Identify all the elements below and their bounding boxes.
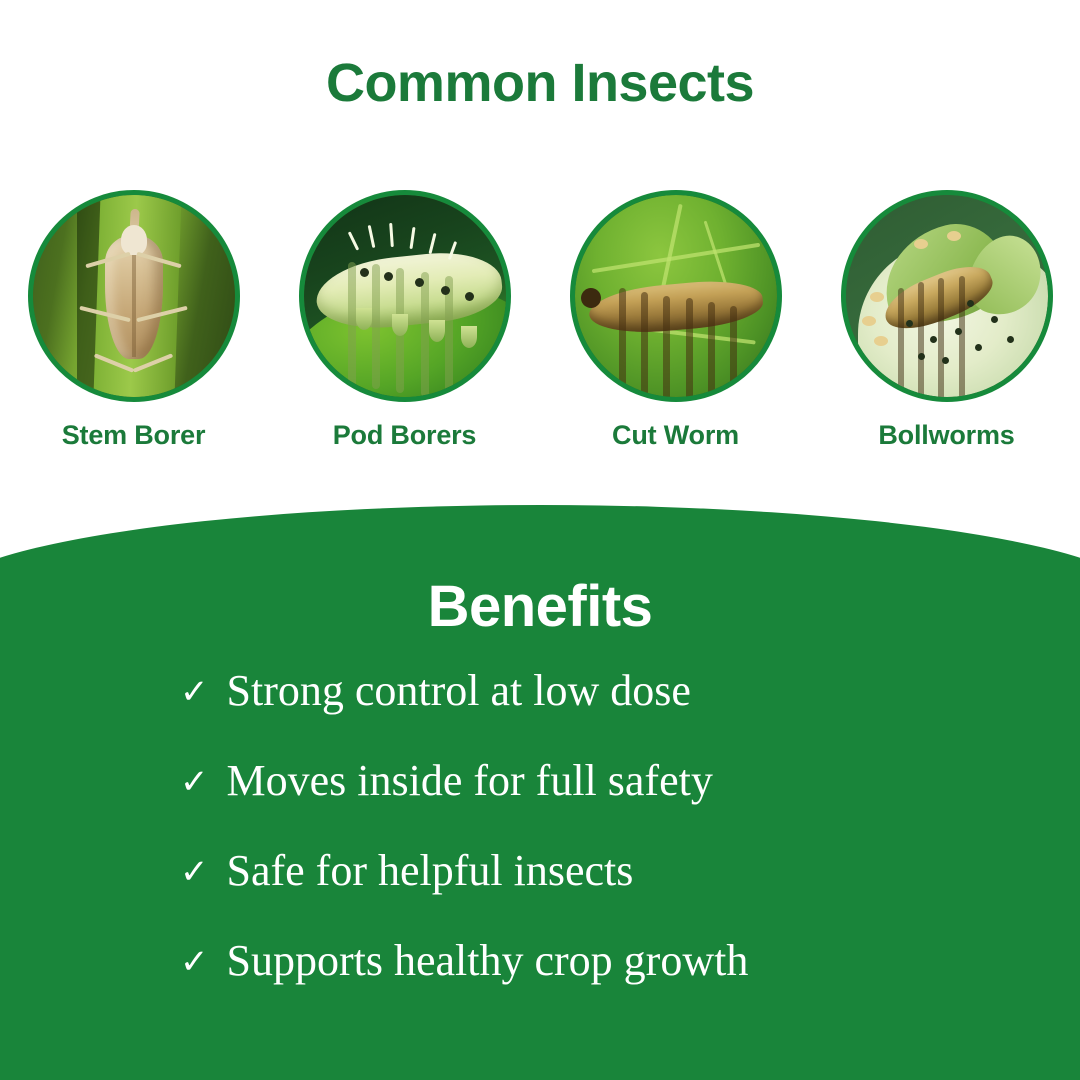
frass-pellet	[862, 316, 876, 326]
insect-card-pod-borers[interactable]: Pod Borers	[299, 190, 511, 451]
caterpillar-photo	[304, 195, 506, 397]
moth-photo	[33, 195, 235, 397]
benefit-item: ✓ Safe for helpful insects	[180, 845, 900, 897]
body-spot	[360, 268, 369, 277]
check-icon: ✓	[180, 676, 209, 710]
seta-hair	[428, 233, 436, 254]
body-spot	[384, 272, 393, 281]
benefits-list: ✓ Strong control at low dose ✓ Moves ins…	[0, 665, 1080, 987]
bollworm-photo	[846, 195, 1048, 397]
insect-avatar-pod-borers	[299, 190, 511, 402]
cutworm-photo	[575, 195, 777, 397]
boll-speck	[955, 328, 962, 335]
proleg	[429, 320, 445, 342]
body-segment	[372, 264, 380, 389]
moth-head	[121, 225, 147, 255]
benefit-text: Safe for helpful insects	[227, 845, 901, 897]
body-spot	[415, 278, 424, 287]
benefit-item: ✓ Moves inside for full safety	[180, 755, 900, 807]
insect-card-cut-worm[interactable]: Cut Worm	[570, 190, 782, 451]
cutworm-body	[587, 276, 764, 337]
insect-label-bollworms: Bollworms	[878, 420, 1014, 451]
benefit-text: Moves inside for full safety	[227, 755, 901, 807]
benefit-text: Supports healthy crop growth	[227, 935, 901, 987]
leaf-vein	[591, 242, 759, 272]
body-segment	[348, 262, 356, 387]
boll-speck	[918, 353, 925, 360]
insect-avatar-stem-borer	[28, 190, 240, 402]
body-segment	[663, 296, 670, 397]
body-segment	[619, 288, 626, 397]
proleg	[356, 308, 372, 330]
boll-speck	[967, 300, 974, 307]
frass-pellet	[870, 292, 884, 302]
body-segment	[918, 282, 924, 397]
frass-pellet	[947, 231, 961, 241]
body-segment	[959, 276, 965, 397]
body-segment	[708, 302, 715, 397]
page-title: Common Insects	[0, 52, 1080, 114]
body-segment	[730, 306, 737, 397]
seta-hair	[390, 223, 395, 247]
body-segment	[898, 288, 904, 397]
insect-avatar-bollworms	[841, 190, 1053, 402]
insect-label-pod-borers: Pod Borers	[333, 420, 477, 451]
insect-label-stem-borer: Stem Borer	[62, 420, 206, 451]
benefit-item: ✓ Strong control at low dose	[180, 665, 900, 717]
benefits-panel: Benefits ✓ Strong control at low dose ✓ …	[0, 505, 1080, 1080]
insect-card-stem-borer[interactable]: Stem Borer	[28, 190, 240, 451]
insecticide-infographic-poster: Common Insects Stem Bor	[0, 0, 1080, 1080]
check-icon: ✓	[180, 946, 209, 980]
seta-hair	[409, 227, 415, 249]
check-icon: ✓	[180, 766, 209, 800]
body-segment	[421, 272, 429, 397]
seta-hair	[368, 225, 376, 248]
check-icon: ✓	[180, 856, 209, 890]
body-spot	[465, 292, 474, 301]
insect-avatar-cut-worm	[570, 190, 782, 402]
insect-card-bollworms[interactable]: Bollworms	[841, 190, 1053, 451]
benefit-text: Strong control at low dose	[227, 665, 901, 717]
benefit-item: ✓ Supports healthy crop growth	[180, 935, 900, 987]
common-insects-row: Stem Borer	[0, 190, 1080, 460]
benefits-content: Benefits ✓ Strong control at low dose ✓ …	[0, 505, 1080, 1080]
body-spot	[441, 286, 450, 295]
body-segment	[641, 292, 648, 397]
body-segment	[686, 298, 693, 397]
seta-hair	[348, 232, 359, 251]
body-segment	[938, 278, 944, 397]
benefits-title: Benefits	[0, 573, 1080, 640]
insect-label-cut-worm: Cut Worm	[612, 420, 739, 451]
